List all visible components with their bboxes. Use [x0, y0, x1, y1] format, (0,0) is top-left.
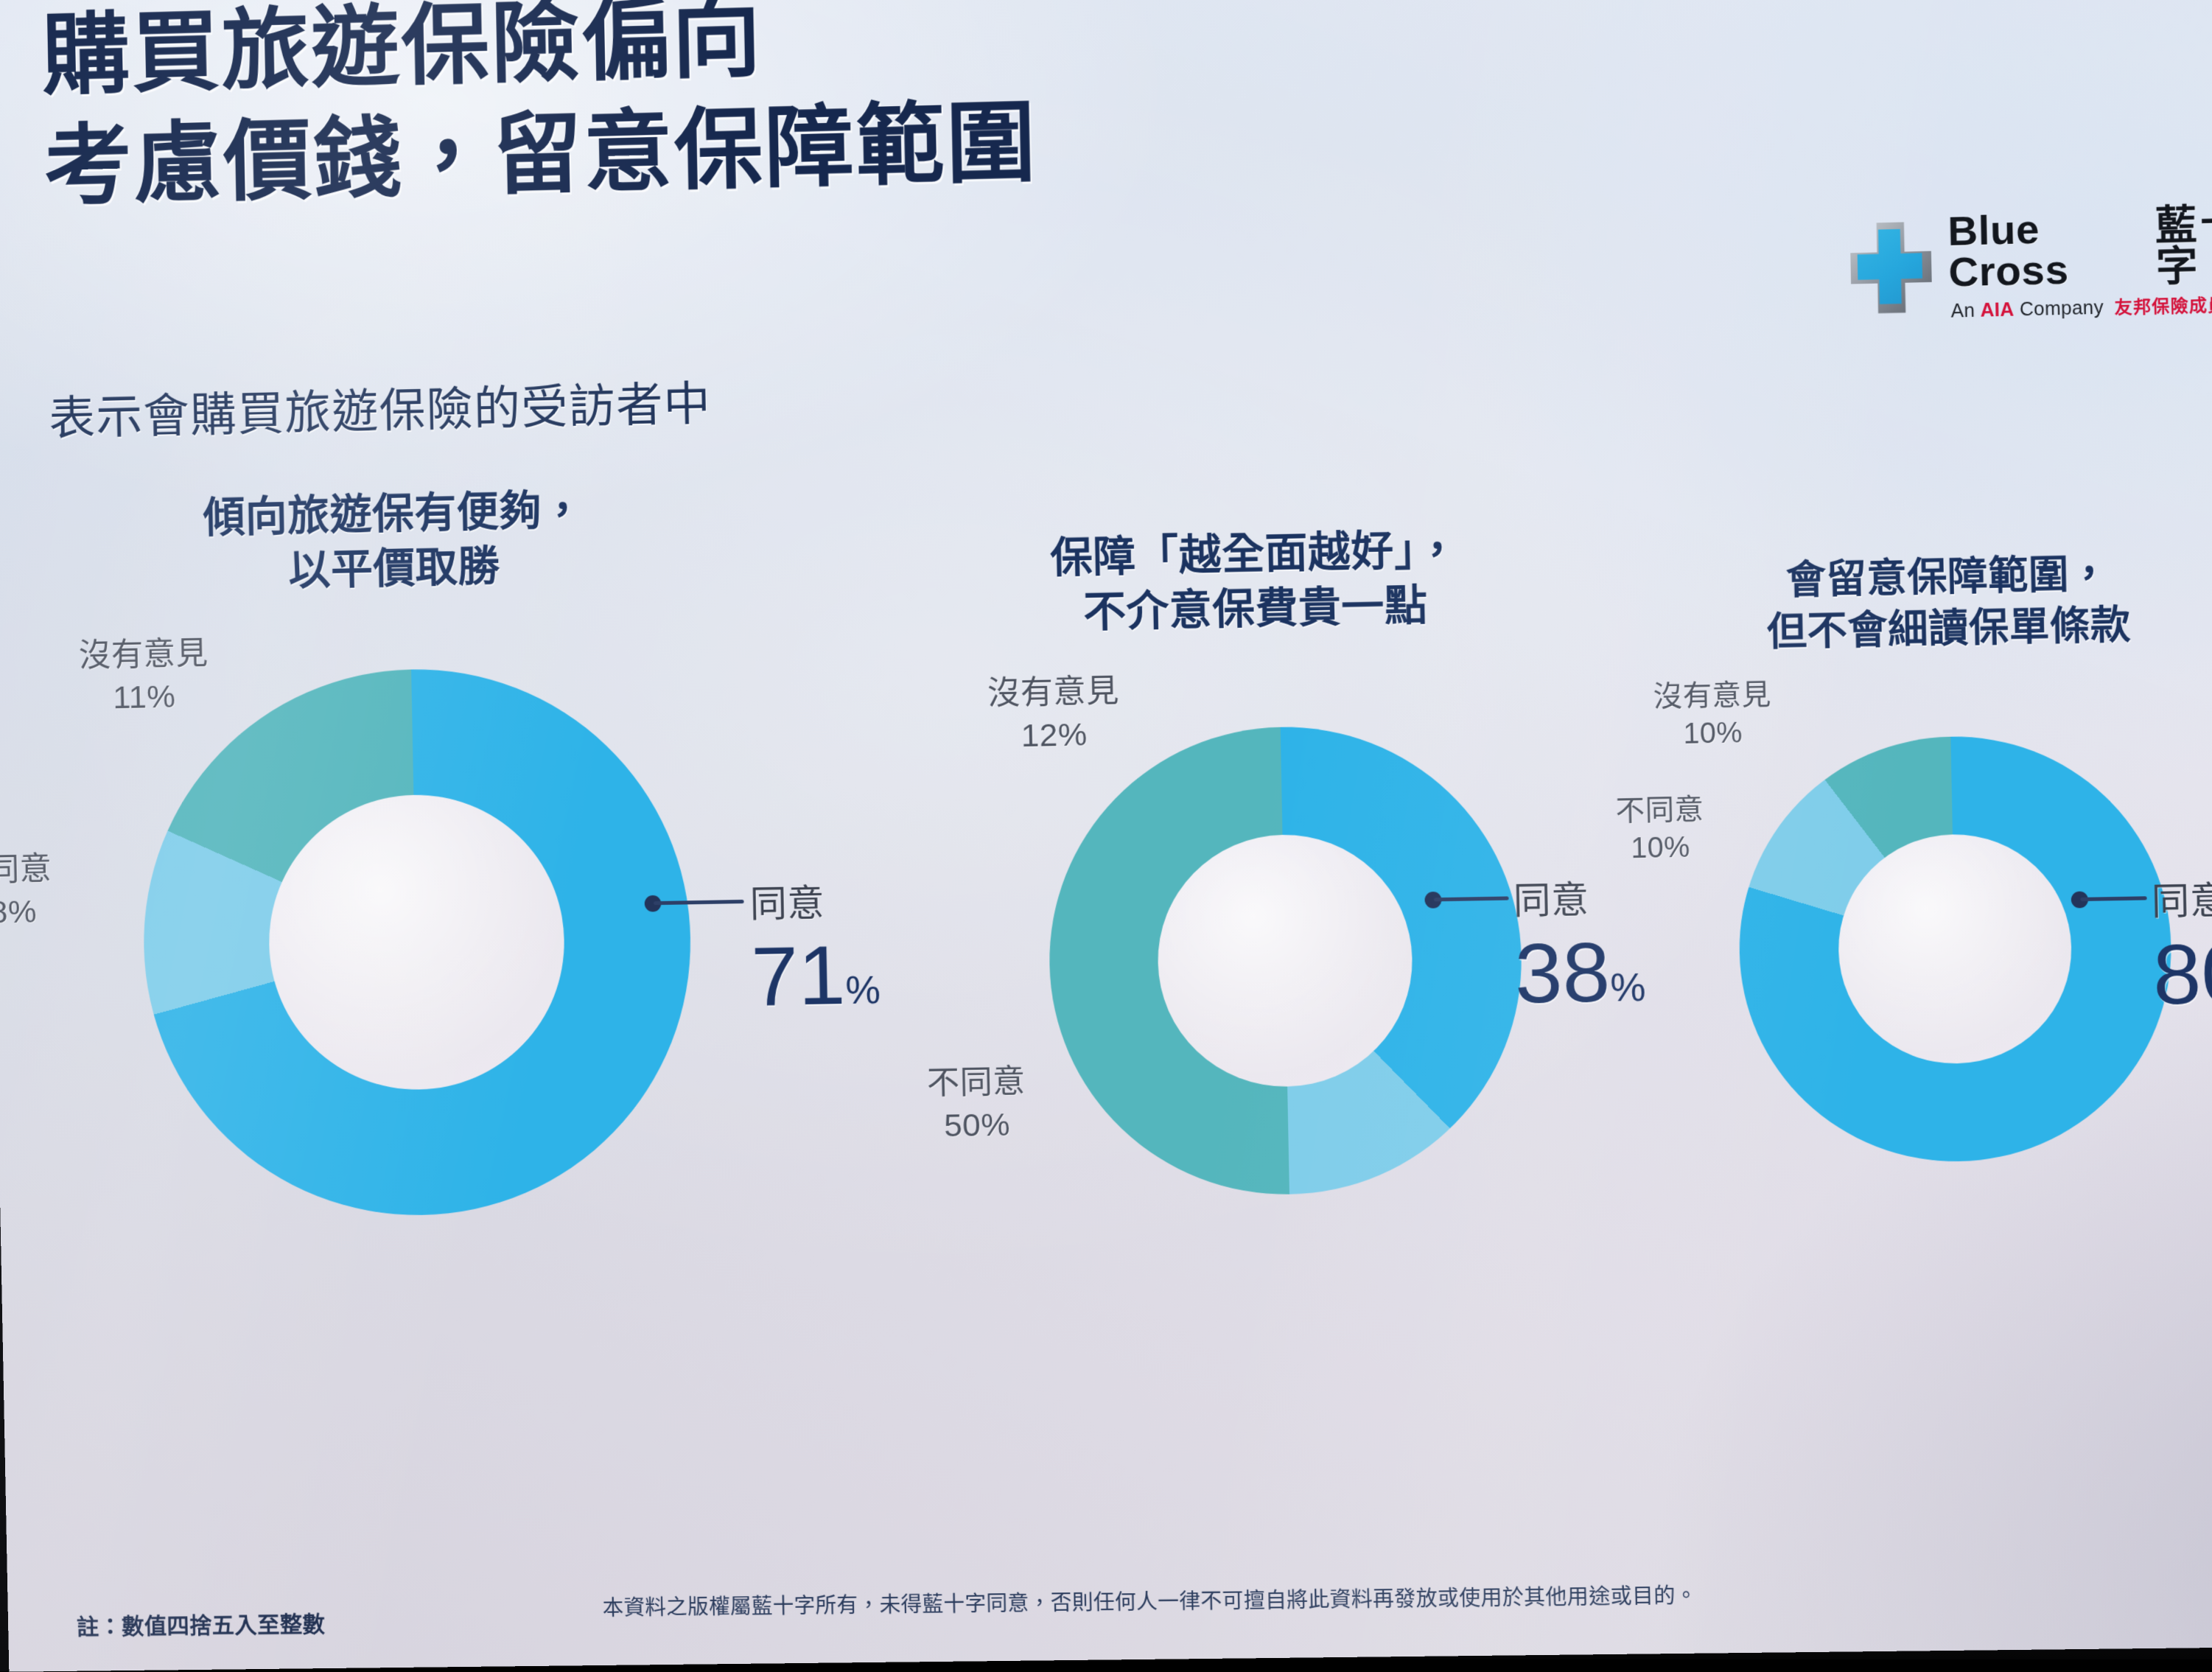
label-no-opinion-coverage: 沒有意見 12% [987, 670, 1121, 758]
chart-coverage-heading: 保障「越全面越好」， 不介意保費貴一點 [973, 520, 1539, 642]
logo-name-en: Blue Cross [1947, 206, 2144, 293]
donut-chart-price [139, 664, 696, 1220]
logo-tagline-zh: 友邦保險成員公司 [2114, 295, 2212, 316]
callout-agree-coverage: 同意 38% [1513, 869, 1646, 1022]
footnote-rounding: 註：數值四捨五入至整數 [76, 1606, 325, 1641]
blue-cross-logo: Blue Cross 藍十字 An AIA Company 友邦保險成員公司 [1849, 203, 2212, 323]
page-title: 購買旅遊保險偏向 考慮價錢，留意保障範圍 [41, 0, 1370, 223]
label-no-opinion-terms: 沒有意見 10% [1653, 676, 1772, 754]
donut-chart-coverage [1045, 722, 1525, 1197]
label-disagree-price: 不同意 18% [0, 848, 53, 934]
label-disagree-terms: 不同意 10% [1615, 791, 1705, 868]
callout-agree-price: 同意 71% [749, 872, 881, 1025]
logo-tagline-en: An AIA Company [1950, 298, 2104, 321]
slide-subtitle: 表示會購買旅遊保險的受訪者中 [49, 365, 712, 448]
donut-hole [1155, 833, 1414, 1089]
footnote-copyright: 本資料之版權屬藍十字所有，未得藍十字同意，否則任何人一律不可擅自將此資料再發放或… [602, 1579, 1697, 1622]
leader-line-price [654, 900, 744, 905]
donut-hole [267, 792, 567, 1092]
label-no-opinion-price: 沒有意見 11% [78, 632, 209, 719]
title-line-1: 購買旅遊保險偏向 [41, 0, 763, 105]
donut-hole [1836, 833, 2073, 1066]
presentation-slide: 購買旅遊保險偏向 考慮價錢，留意保障範圍 表示會購買旅遊保險的受訪者中 Blue… [0, 0, 2212, 1672]
chart-price-heading: 傾向旅遊保有便夠， 以平價取勝 [98, 480, 691, 602]
blue-cross-icon [1849, 221, 1932, 314]
chart-terms-heading: 會留意保障範圍， 但不會細讀保單條款 [1679, 547, 2212, 660]
label-disagree-coverage: 不同意 50% [927, 1060, 1027, 1147]
logo-name-zh: 藍十字 [2155, 203, 2212, 288]
callout-agree-terms: 同意 80% [2151, 870, 2212, 1024]
donut-chart-terms [1735, 732, 2175, 1164]
